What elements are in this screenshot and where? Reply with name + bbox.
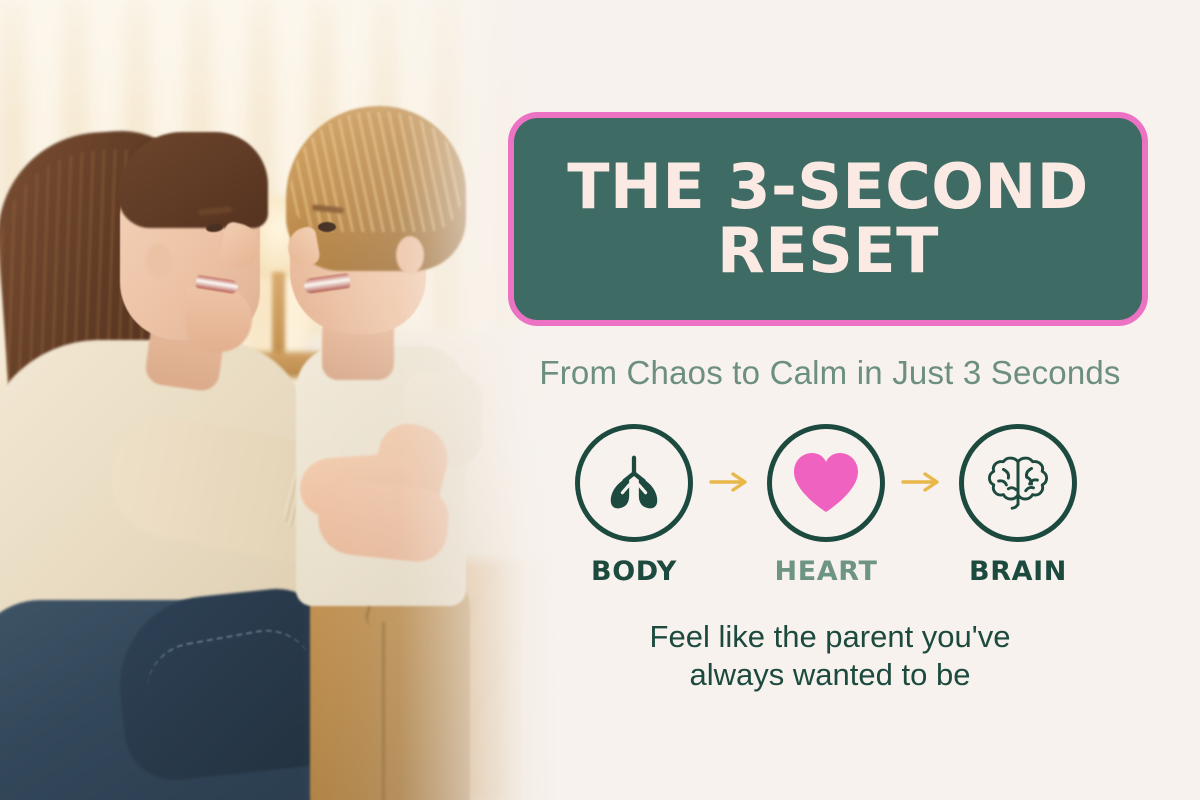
subtitle: From Chaos to Calm in Just 3 Seconds xyxy=(500,354,1160,392)
content-panel: THE 3-SECOND RESET From Chaos to Calm in… xyxy=(500,0,1200,800)
arrow-right-icon xyxy=(708,470,752,494)
page-title: THE 3-SECOND RESET xyxy=(549,155,1107,283)
arrow-heart-to-brain xyxy=(891,424,953,494)
title-card: THE 3-SECOND RESET xyxy=(508,112,1148,326)
steps-row: BODY HEART xyxy=(566,424,1086,587)
lungs-icon xyxy=(603,452,665,514)
step-heart-circle xyxy=(767,424,885,542)
step-body[interactable]: BODY xyxy=(569,424,699,587)
step-brain[interactable]: BRAIN xyxy=(953,424,1083,587)
step-body-label: BODY xyxy=(591,556,677,587)
tagline-line-2: always wanted to be xyxy=(690,657,971,692)
arrow-body-to-heart xyxy=(699,424,761,494)
photo-woman-chin xyxy=(186,286,252,352)
heart-icon xyxy=(790,450,862,516)
step-heart[interactable]: HEART xyxy=(761,424,891,587)
title-line-2: RESET xyxy=(717,214,939,287)
brain-icon xyxy=(985,452,1051,514)
photo-woman-ear xyxy=(146,244,172,278)
tagline-line-1: Feel like the parent you've xyxy=(650,619,1011,654)
step-heart-label: HEART xyxy=(775,556,878,587)
arrow-right-icon xyxy=(900,470,944,494)
hero-photo xyxy=(0,0,560,800)
poster-canvas: THE 3-SECOND RESET From Chaos to Calm in… xyxy=(0,0,1200,800)
step-body-circle xyxy=(575,424,693,542)
tagline: Feel like the parent you've always wante… xyxy=(540,618,1120,694)
photo-woman-hairline xyxy=(118,132,268,228)
step-brain-label: BRAIN xyxy=(969,556,1067,587)
step-brain-circle xyxy=(959,424,1077,542)
photo-lamp-stem xyxy=(272,272,285,358)
title-line-1: THE 3-SECOND xyxy=(567,150,1089,223)
